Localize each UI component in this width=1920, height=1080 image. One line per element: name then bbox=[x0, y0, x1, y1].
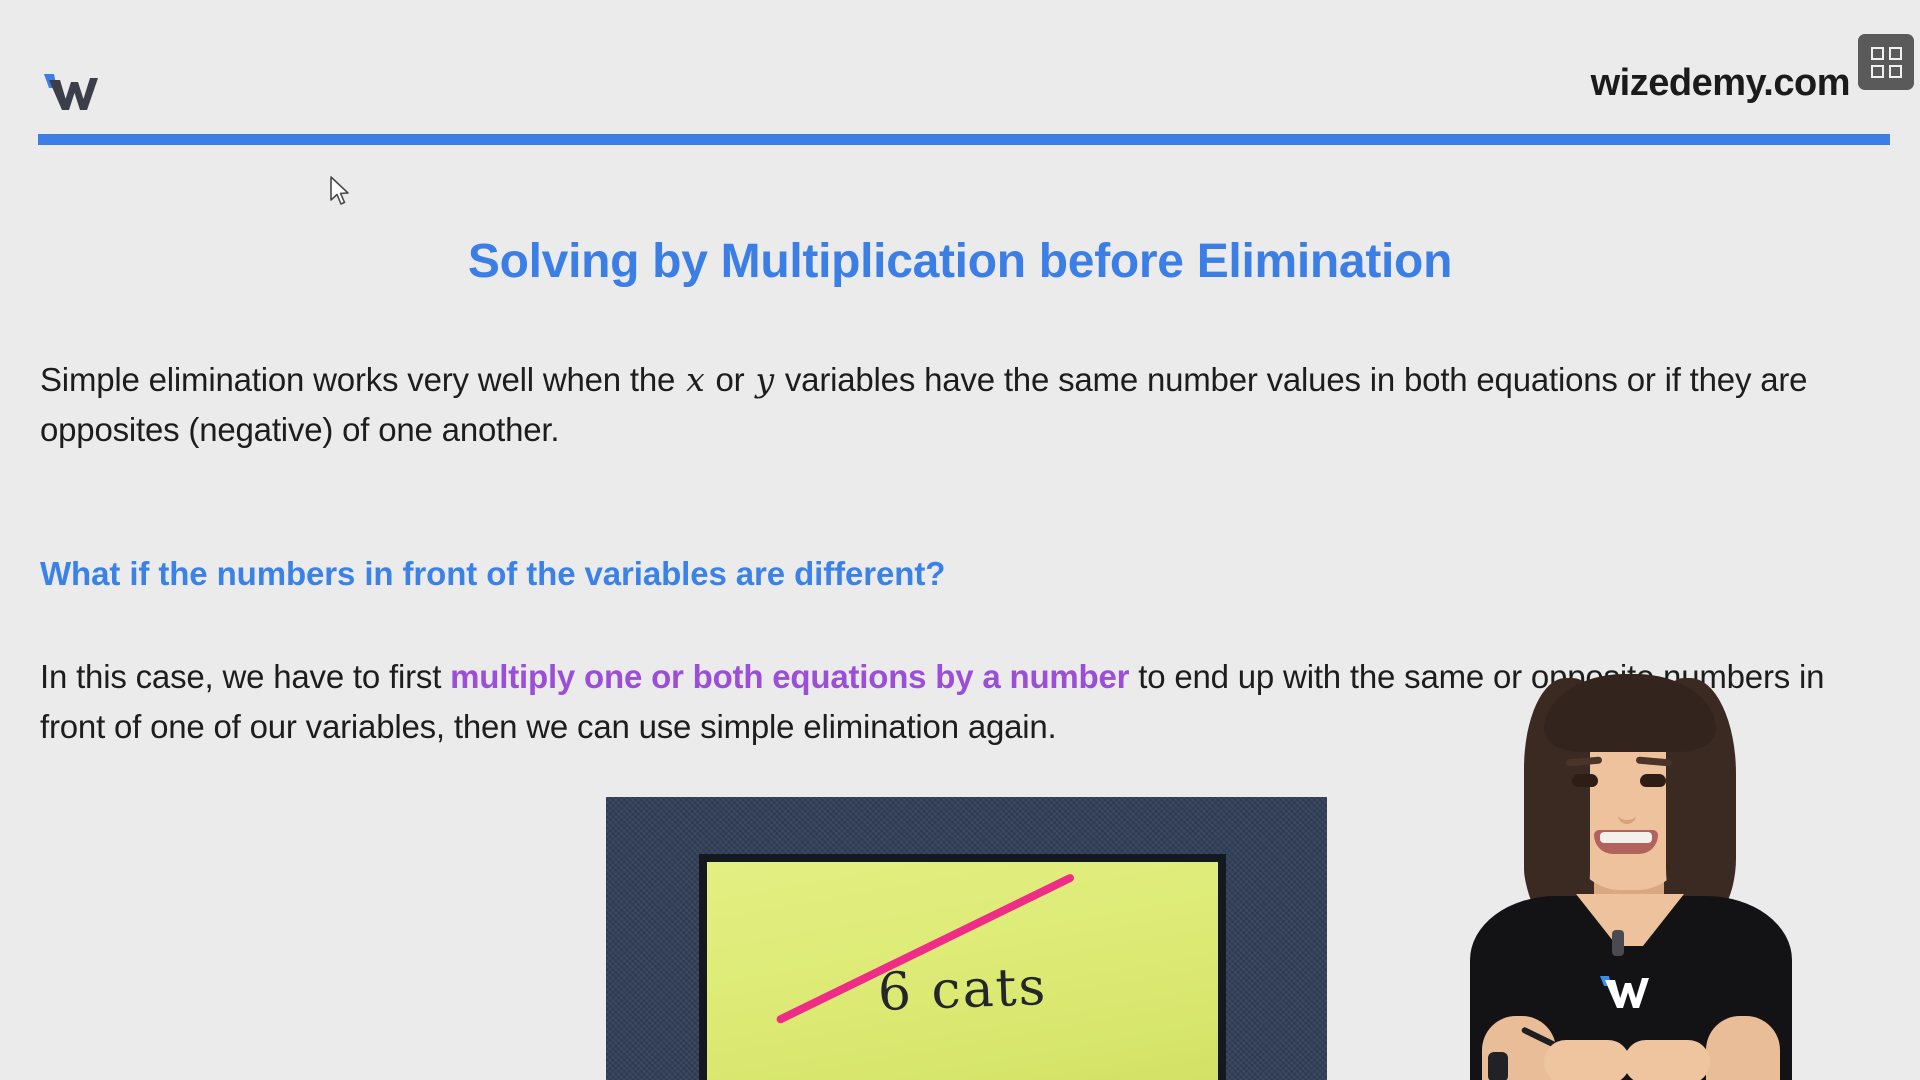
wizedemy-logo-icon bbox=[38, 62, 110, 120]
presenter-eye-right bbox=[1640, 774, 1666, 787]
grid-icon bbox=[1871, 47, 1902, 78]
grid-menu-button[interactable] bbox=[1858, 34, 1914, 90]
presenter-eye-left bbox=[1572, 774, 1598, 787]
presenter-teeth bbox=[1600, 832, 1652, 843]
variable-y: y bbox=[753, 360, 775, 399]
presenter-video-overlay bbox=[1448, 648, 1818, 1080]
highlighted-phrase: multiply one or both equations by a numb… bbox=[450, 658, 1129, 695]
mouse-cursor bbox=[330, 176, 352, 208]
site-url-label: wizedemy.com bbox=[1591, 62, 1850, 105]
variable-x: x bbox=[684, 360, 706, 399]
header-divider-rule bbox=[38, 134, 1890, 145]
wizedemy-logo-shirt-icon bbox=[1596, 974, 1668, 1014]
presenter-wristband bbox=[1488, 1052, 1508, 1080]
presenter-arm-right bbox=[1706, 1016, 1780, 1080]
sticky-note: 6 cats bbox=[707, 862, 1218, 1080]
intro-text-a: Simple elimination works very well when … bbox=[40, 361, 684, 398]
intro-paragraph: Simple elimination works very well when … bbox=[40, 355, 1830, 455]
page-title: Solving by Multiplication before Elimina… bbox=[0, 234, 1920, 289]
presenter-mouth bbox=[1594, 830, 1658, 854]
slide-header: wizedemy.com bbox=[0, 0, 1920, 145]
slide-viewer: wizedemy.com Solving by Multiplication b… bbox=[0, 0, 1920, 1080]
sticky-note-image: 6 cats bbox=[606, 797, 1327, 1080]
explanation-text-a: In this case, we have to first bbox=[40, 658, 450, 695]
presenter-hand-right bbox=[1624, 1040, 1710, 1080]
lapel-microphone-icon bbox=[1612, 930, 1624, 956]
note-frame: 6 cats bbox=[699, 854, 1226, 1080]
question-heading: What if the numbers in front of the vari… bbox=[40, 555, 945, 593]
intro-text-b: or bbox=[707, 361, 754, 398]
presenter-hand-left bbox=[1544, 1040, 1630, 1080]
presenter-nose bbox=[1618, 798, 1636, 824]
